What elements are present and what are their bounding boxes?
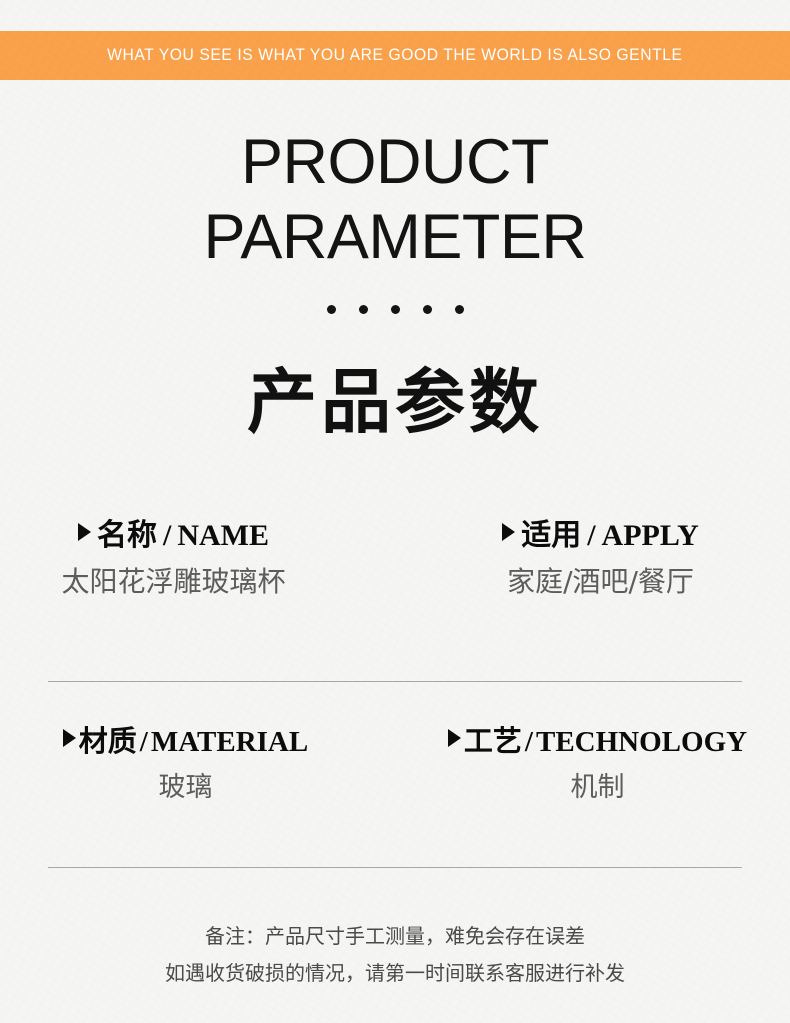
page-title-line-1: PRODUCT xyxy=(0,125,790,200)
triangle-right-icon xyxy=(502,523,515,541)
page-title-en: PRODUCT PARAMETER xyxy=(0,125,790,275)
spec-label-cn: 名称 xyxy=(97,516,157,556)
divider-dot-icon xyxy=(391,305,400,314)
tagline-banner: WHAT YOU SEE IS WHAT YOU ARE GOOD THE WO… xyxy=(0,31,790,80)
footer-note-line-2: 如遇收货破损的情况，请第一时间联系客服进行补发 xyxy=(0,955,790,992)
product-parameter-page: WHAT YOU SEE IS WHAT YOU ARE GOOD THE WO… xyxy=(0,0,790,1023)
spec-label-separator: / xyxy=(140,722,148,762)
section-divider xyxy=(48,867,742,868)
dot-divider xyxy=(0,305,790,314)
page-title-cn: 产品参数 xyxy=(0,360,790,444)
spec-item-apply: 适用/APPLY 家庭/酒吧/餐厅 xyxy=(395,516,790,636)
spec-value: 太阳花浮雕玻璃杯 xyxy=(0,562,347,602)
spec-label: 名称/NAME xyxy=(0,516,347,556)
spec-label: 材质/MATERIAL xyxy=(0,721,371,762)
spec-value: 机制 xyxy=(405,768,790,808)
spec-label-en: APPLY xyxy=(602,516,699,556)
spec-item-name: 名称/NAME 太阳花浮雕玻璃杯 xyxy=(0,516,395,636)
spec-label-cn: 工艺 xyxy=(464,721,522,761)
divider-dot-icon xyxy=(423,305,432,314)
footer-note: 备注：产品尺寸手工测量，难免会存在误差 如遇收货破损的情况，请第一时间联系客服进… xyxy=(0,918,790,992)
spec-label-separator: / xyxy=(525,722,533,762)
spec-label: 工艺/TECHNOLOGY xyxy=(405,721,790,762)
spec-row: 名称/NAME 太阳花浮雕玻璃杯 适用/APPLY 家庭/酒吧/餐厅 xyxy=(0,516,790,636)
spec-item-material: 材质/MATERIAL 玻璃 xyxy=(0,721,395,839)
spec-label-cn: 材质 xyxy=(79,721,137,761)
spec-label: 适用/APPLY xyxy=(411,516,790,556)
spec-label-separator: / xyxy=(163,516,171,556)
divider-dot-icon xyxy=(327,305,336,314)
spec-label-en: TECHNOLOGY xyxy=(536,722,747,762)
spec-label-en: MATERIAL xyxy=(151,722,308,762)
spec-row: 材质/MATERIAL 玻璃 工艺/TECHNOLOGY 机制 xyxy=(0,721,790,839)
spec-grid: 名称/NAME 太阳花浮雕玻璃杯 适用/APPLY 家庭/酒吧/餐厅 材质/MA… xyxy=(0,516,790,839)
spec-item-technology: 工艺/TECHNOLOGY 机制 xyxy=(395,721,790,839)
spec-value: 玻璃 xyxy=(0,768,371,808)
section-divider xyxy=(48,681,742,682)
triangle-right-icon xyxy=(78,523,91,541)
page-title-line-2: PARAMETER xyxy=(0,200,790,275)
spec-value: 家庭/酒吧/餐厅 xyxy=(411,562,790,602)
triangle-right-icon xyxy=(448,729,461,747)
spec-label-cn: 适用 xyxy=(521,516,581,556)
spec-label-en: NAME xyxy=(177,516,269,556)
spec-label-separator: / xyxy=(587,516,595,556)
tagline-text: WHAT YOU SEE IS WHAT YOU ARE GOOD THE WO… xyxy=(107,46,682,65)
divider-dot-icon xyxy=(455,305,464,314)
triangle-right-icon xyxy=(63,729,76,747)
spec-row-gap xyxy=(0,636,790,721)
footer-note-line-1: 备注：产品尺寸手工测量，难免会存在误差 xyxy=(0,918,790,955)
divider-dot-icon xyxy=(359,305,368,314)
